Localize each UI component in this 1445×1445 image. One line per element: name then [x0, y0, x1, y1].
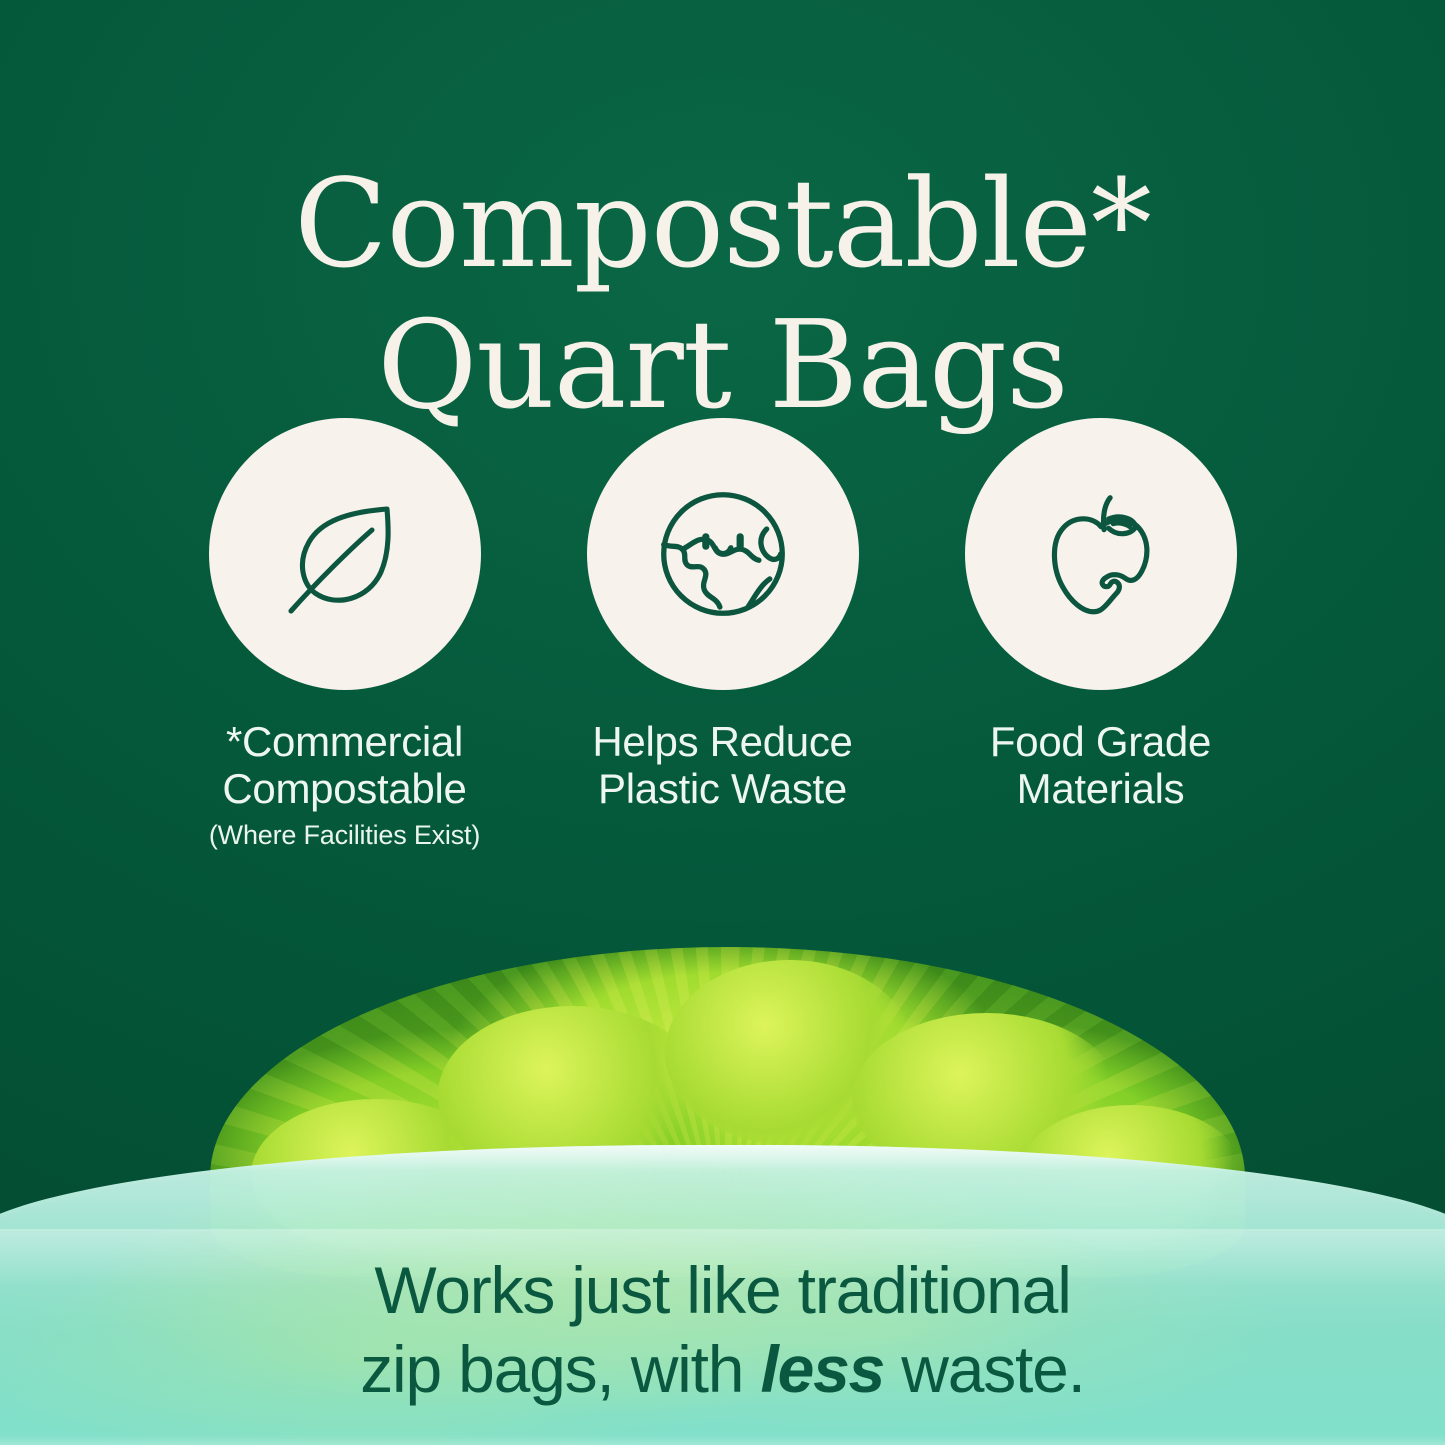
bitten-apple-icon: [1025, 478, 1177, 630]
feature-item-reduce-plastic: Helps Reduce Plastic Waste: [587, 418, 859, 819]
feature-caption: Food Grade Materials: [936, 718, 1266, 813]
tagline: Works just like traditional zip bags, wi…: [0, 1251, 1445, 1409]
tagline-line-2: zip bags, with less waste.: [70, 1330, 1375, 1409]
tagline-line-2-before: zip bags, with: [360, 1332, 760, 1406]
page-title: Compostable* Quart Bags: [0, 154, 1445, 437]
feature-item-compostable: *Commercial Compostable (Where Facilitie…: [209, 418, 481, 851]
feature-badge-circle: [965, 418, 1237, 690]
headline-line-2: Quart Bags: [60, 295, 1385, 437]
smiling-earth-icon: [645, 476, 801, 632]
tagline-emphasis: less: [760, 1332, 884, 1406]
leaf-icon: [270, 479, 420, 629]
feature-subcaption: (Where Facilities Exist): [165, 819, 525, 851]
feature-caption: *Commercial Compostable: [180, 718, 510, 813]
feature-item-food-grade: Food Grade Materials: [965, 418, 1237, 819]
tagline-line-1: Works just like traditional: [374, 1253, 1070, 1327]
headline-line-1: Compostable*: [294, 153, 1151, 295]
feature-badge-circle: [587, 418, 859, 690]
tagline-line-2-after: waste.: [884, 1332, 1085, 1406]
feature-list: *Commercial Compostable (Where Facilitie…: [0, 418, 1445, 851]
feature-caption: Helps Reduce Plastic Waste: [558, 718, 888, 813]
product-feature-poster: Compostable* Quart Bags *Commercial Comp…: [0, 0, 1445, 1445]
feature-badge-circle: [209, 418, 481, 690]
